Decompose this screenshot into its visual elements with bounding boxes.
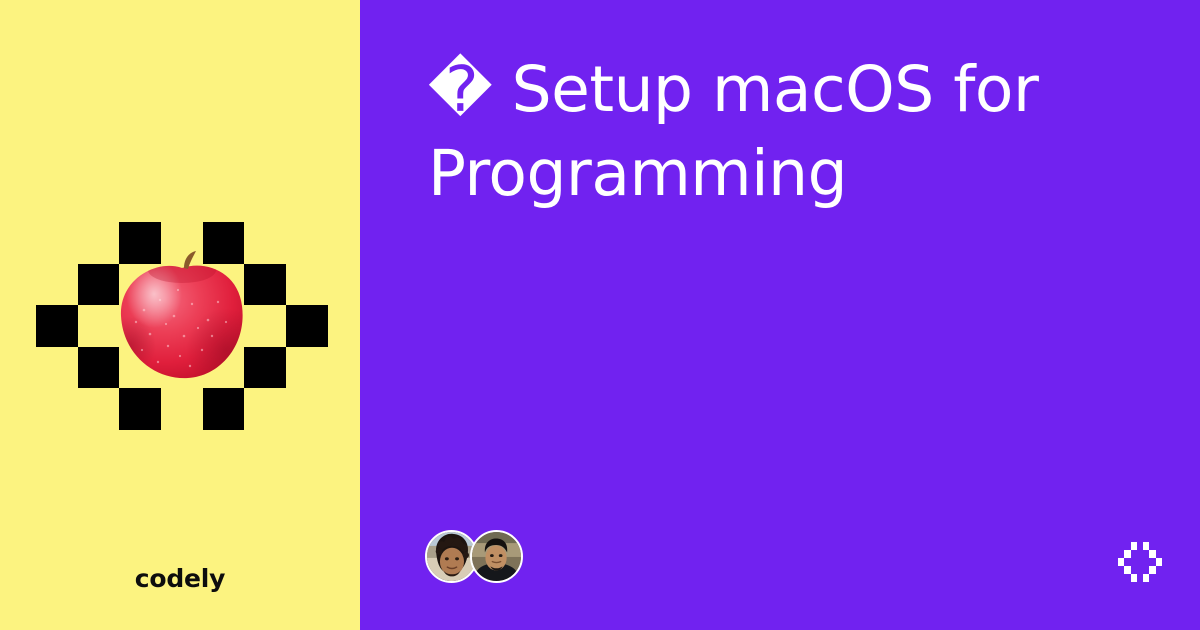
pixel-cell-1-0 [36,264,78,306]
red-apple-image [114,250,250,382]
author-avatar-stack [425,528,523,584]
pixel-cell-3-5 [244,347,286,389]
pixel-cell-1-5 [244,264,286,306]
pixel-cell-4-0 [36,388,78,430]
pixel-cell-4-1 [78,388,120,430]
pixel-cell-0-0 [36,222,78,264]
pixel-cell-1-6 [286,264,328,306]
pixel-cell-4-2 [119,388,161,430]
pixel-cell-0-6 [286,222,328,264]
pixel-cell-4-6 [1156,574,1162,582]
pixel-cell-4-5 [244,388,286,430]
pixel-cell-3-6 [286,347,328,389]
apple-checkerboard-artwork [36,222,328,430]
pixel-cell-2-6 [1156,558,1162,566]
right-content-panel: � Setup macOS for Programming [360,0,1200,630]
pixel-cell-2-6 [286,305,328,347]
pixel-cell-4-6 [286,388,328,430]
pixel-cell-3-0 [36,347,78,389]
avatar [470,530,523,583]
pixel-cell-2-0 [36,305,78,347]
social-share-card: codely � Setup macOS for Programming [0,0,1200,630]
pixel-cell-0-5 [244,222,286,264]
pixel-cell-2-5 [244,305,286,347]
pixel-cell-3-6 [1156,566,1162,574]
pixel-cell-1-6 [1156,550,1162,558]
pixel-cell-4-4 [203,388,245,430]
codely-wordmark: codely [0,564,360,593]
page-title: � Setup macOS for Programming [428,48,1128,217]
pixel-cell-4-3 [161,388,203,430]
codely-pixel-ring-logo [1118,542,1162,582]
left-brand-panel: codely [0,0,360,630]
pixel-cell-0-6 [1156,542,1162,550]
card-footer [360,520,1200,630]
